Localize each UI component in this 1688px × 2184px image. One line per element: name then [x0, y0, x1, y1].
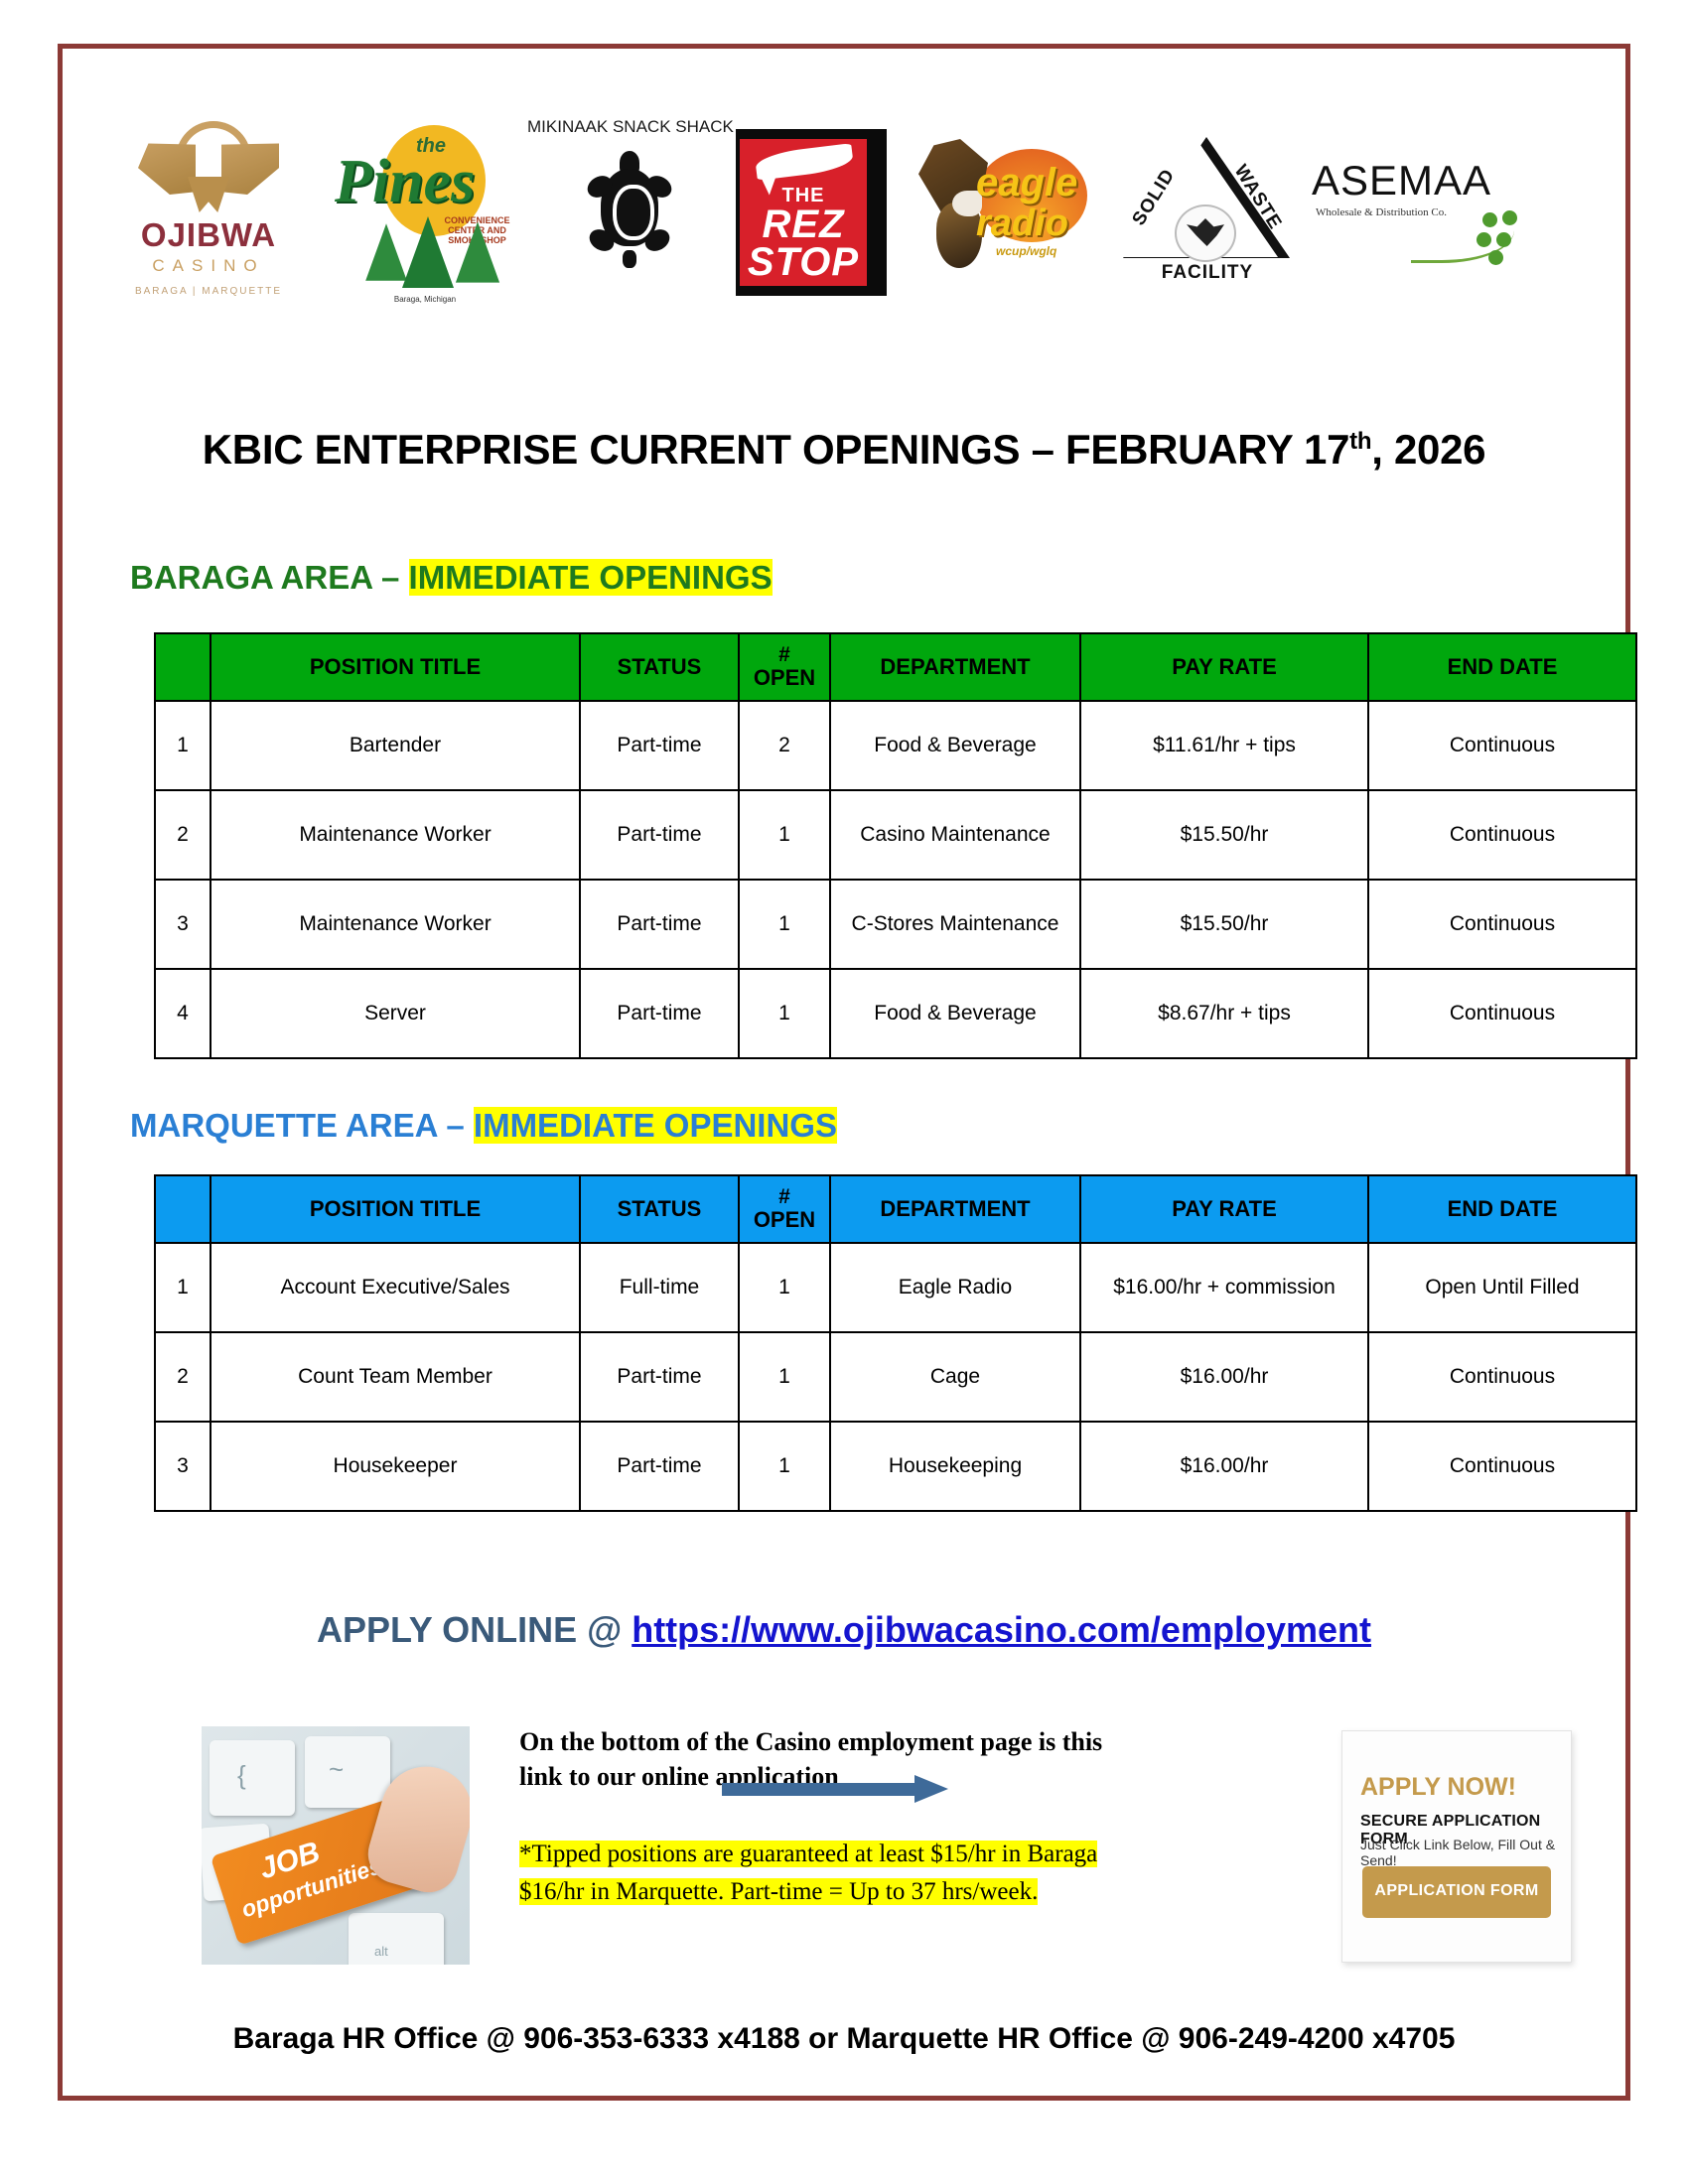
table-row: 3 Maintenance Worker Part-time 1 C-Store…	[155, 880, 1636, 969]
cell-status: Part-time	[580, 790, 739, 880]
solid-waste-facility-logo: SOLID WASTE FACILITY	[1113, 113, 1302, 312]
cell-index: 1	[155, 1243, 211, 1332]
cell-department: Housekeeping	[830, 1422, 1080, 1511]
cell-end-date: Continuous	[1368, 1332, 1636, 1422]
cell-department: Eagle Radio	[830, 1243, 1080, 1332]
key-symbol-icon: ~	[329, 1754, 344, 1785]
cell-position-title: Maintenance Worker	[211, 790, 580, 880]
cell-end-date: Open Until Filled	[1368, 1243, 1636, 1332]
turtle-icon	[587, 151, 672, 266]
cell-position-title: Account Executive/Sales	[211, 1243, 580, 1332]
note-line-1: On the bottom of the Casino employment p…	[519, 1724, 1274, 1759]
cell-department: Food & Beverage	[830, 701, 1080, 790]
cell-index: 3	[155, 1422, 211, 1511]
baraga-openings-table: POSITION TITLE STATUS #OPEN DEPARTMENT P…	[154, 632, 1637, 1059]
page-frame: OJIBWA CASINO BARAGA | MARQUETTE the Pin…	[58, 44, 1630, 2101]
hr-contact-footer: Baraga HR Office @ 906-353-6333 x4188 or…	[63, 2022, 1625, 2056]
cell-position-title: Bartender	[211, 701, 580, 790]
cell-pay-rate: $16.00/hr	[1080, 1422, 1368, 1511]
section-heading-marquette-prefix: MARQUETTE AREA –	[130, 1107, 474, 1144]
ojibwa-casino-logo: OJIBWA CASINO BARAGA | MARQUETTE	[114, 113, 303, 312]
cell-num-open: 1	[739, 969, 830, 1058]
application-form-button-label: APPLICATION FORM	[1362, 1882, 1551, 1900]
col-header-index	[155, 633, 211, 701]
right-arrow-icon	[722, 1776, 960, 1802]
page-title-ordinal: th	[1349, 428, 1371, 455]
ojibwa-wordmark: OJIBWA	[114, 216, 303, 254]
job-opportunities-image: { ~ JOB opportunities alt	[202, 1726, 470, 1965]
cell-status: Part-time	[580, 969, 739, 1058]
logo-strip: OJIBWA CASINO BARAGA | MARQUETTE the Pin…	[63, 103, 1625, 312]
apply-online-line: APPLY ONLINE @ https://www.ojibwacasino.…	[63, 1609, 1625, 1651]
num-open-hash: #	[744, 1186, 825, 1208]
pine-tree-icon	[402, 216, 454, 288]
cell-department: Cage	[830, 1332, 1080, 1422]
tipped-positions-note: *Tipped positions are guaranteed at leas…	[519, 1836, 1304, 1910]
col-header-pay-rate: PAY RATE	[1080, 1175, 1368, 1243]
page-title-year: , 2026	[1371, 426, 1485, 473]
col-header-end-date: END DATE	[1368, 1175, 1636, 1243]
apply-now-title: APPLY NOW!	[1360, 1773, 1516, 1802]
eagle-wordmark-2: radio	[976, 203, 1068, 245]
asemaa-logo: ASEMAA Wholesale & Distribution Co.	[1308, 113, 1516, 312]
cell-status: Full-time	[580, 1243, 739, 1332]
col-header-end-date: END DATE	[1368, 633, 1636, 701]
cell-end-date: Continuous	[1368, 880, 1636, 969]
cell-position-title: Housekeeper	[211, 1422, 580, 1511]
the-pines-logo: the Pines CONVENIENCE CENTER AND SMOKESH…	[321, 113, 529, 312]
cell-index: 1	[155, 701, 211, 790]
cell-end-date: Continuous	[1368, 701, 1636, 790]
cell-num-open: 1	[739, 1422, 830, 1511]
cell-position-title: Maintenance Worker	[211, 880, 580, 969]
cell-department: Casino Maintenance	[830, 790, 1080, 880]
cell-pay-rate: $8.67/hr + tips	[1080, 969, 1368, 1058]
cell-index: 2	[155, 1332, 211, 1422]
pines-wordmark: Pines	[335, 147, 475, 217]
pines-city-label: Baraga, Michigan	[321, 295, 529, 304]
num-open-hash: #	[744, 644, 825, 666]
page-title-main: KBIC ENTERPRISE CURRENT OPENINGS – FEBRU…	[203, 426, 1349, 473]
pine-tree-icon	[365, 223, 407, 281]
section-heading-baraga: BARAGA AREA – IMMEDIATE OPENINGS	[130, 559, 773, 597]
cell-status: Part-time	[580, 1422, 739, 1511]
section-heading-baraga-highlight: IMMEDIATE OPENINGS	[409, 559, 773, 596]
col-header-pay-rate: PAY RATE	[1080, 633, 1368, 701]
col-header-num-open: #OPEN	[739, 1175, 830, 1243]
apply-online-label: APPLY ONLINE @	[317, 1609, 632, 1650]
cell-index: 4	[155, 969, 211, 1058]
the-rez-stop-logo: THE REZ STOP	[728, 113, 897, 312]
cell-num-open: 1	[739, 1243, 830, 1332]
rez-line2: STOP	[740, 240, 867, 285]
num-open-word: OPEN	[754, 1207, 815, 1232]
col-header-num-open: #OPEN	[739, 633, 830, 701]
cell-pay-rate: $15.50/hr	[1080, 790, 1368, 880]
section-heading-marquette: MARQUETTE AREA – IMMEDIATE OPENINGS	[130, 1107, 837, 1145]
table-row: 4 Server Part-time 1 Food & Beverage $8.…	[155, 969, 1636, 1058]
apply-now-hint: Just Click Link Below, Fill Out & Send!	[1360, 1837, 1571, 1868]
cell-num-open: 1	[739, 790, 830, 880]
cell-pay-rate: $11.61/hr + tips	[1080, 701, 1368, 790]
apply-now-card[interactable]: APPLY NOW! SECURE APPLICATION FORM Just …	[1341, 1730, 1572, 1963]
mikinaak-snack-shack-logo: MIKINAAK SNACK SHACK	[539, 113, 718, 312]
cell-department: Food & Beverage	[830, 969, 1080, 1058]
ojibwa-locations: BARAGA | MARQUETTE	[114, 286, 303, 297]
num-open-word: OPEN	[754, 665, 815, 690]
application-form-button[interactable]: APPLICATION FORM	[1362, 1866, 1551, 1918]
asemaa-wordmark: ASEMAA	[1312, 157, 1491, 205]
col-header-department: DEPARTMENT	[830, 633, 1080, 701]
cell-index: 2	[155, 790, 211, 880]
mikinaak-title: MIKINAAK SNACK SHACK	[527, 117, 730, 137]
cell-num-open: 1	[739, 1332, 830, 1422]
cell-status: Part-time	[580, 701, 739, 790]
tip-note-line-2: $16/hr in Marquette. Part-time = Up to 3…	[519, 1878, 1038, 1905]
table-row: 3 Housekeeper Part-time 1 Housekeeping $…	[155, 1422, 1636, 1511]
table-row: 2 Maintenance Worker Part-time 1 Casino …	[155, 790, 1636, 880]
key-symbol-icon: {	[237, 1760, 246, 1791]
col-header-position-title: POSITION TITLE	[211, 1175, 580, 1243]
cell-pay-rate: $16.00/hr	[1080, 1332, 1368, 1422]
eagle-radio-logo: eagle radio wcup/wglq	[911, 113, 1109, 312]
section-heading-marquette-highlight: IMMEDIATE OPENINGS	[474, 1107, 837, 1144]
col-header-status: STATUS	[580, 1175, 739, 1243]
cell-position-title: Server	[211, 969, 580, 1058]
pine-tree-icon	[456, 221, 499, 282]
col-header-index	[155, 1175, 211, 1243]
cell-position-title: Count Team Member	[211, 1332, 580, 1422]
cell-end-date: Continuous	[1368, 790, 1636, 880]
seal-icon	[1175, 205, 1236, 262]
page-title: KBIC ENTERPRISE CURRENT OPENINGS – FEBRU…	[63, 426, 1625, 474]
eagle-callsign: wcup/wglq	[996, 244, 1056, 258]
cell-index: 3	[155, 880, 211, 969]
employment-link[interactable]: https://www.ojibwacasino.com/employment	[632, 1609, 1371, 1650]
table-header-row: POSITION TITLE STATUS #OPEN DEPARTMENT P…	[155, 1175, 1636, 1243]
cell-department: C-Stores Maintenance	[830, 880, 1080, 969]
cell-status: Part-time	[580, 1332, 739, 1422]
cell-pay-rate: $16.00/hr + commission	[1080, 1243, 1368, 1332]
cell-num-open: 1	[739, 880, 830, 969]
cell-pay-rate: $15.50/hr	[1080, 880, 1368, 969]
table-row: 2 Count Team Member Part-time 1 Cage $16…	[155, 1332, 1636, 1422]
tip-note-line-1: *Tipped positions are guaranteed at leas…	[519, 1841, 1097, 1867]
ojibwa-eagle-icon	[142, 121, 275, 212]
feather-icon	[755, 143, 854, 181]
table-row: 1 Bartender Part-time 2 Food & Beverage …	[155, 701, 1636, 790]
swf-bottom-label: FACILITY	[1113, 262, 1302, 284]
col-header-department: DEPARTMENT	[830, 1175, 1080, 1243]
eagle-wordmark-1: eagle	[976, 161, 1077, 205]
ojibwa-subwordmark: CASINO	[114, 256, 303, 276]
cell-status: Part-time	[580, 880, 739, 969]
cell-end-date: Continuous	[1368, 1422, 1636, 1511]
table-header-row: POSITION TITLE STATUS #OPEN DEPARTMENT P…	[155, 633, 1636, 701]
col-header-status: STATUS	[580, 633, 739, 701]
alt-key-label: alt	[374, 1944, 388, 1959]
col-header-position-title: POSITION TITLE	[211, 633, 580, 701]
cell-end-date: Continuous	[1368, 969, 1636, 1058]
table-row: 1 Account Executive/Sales Full-time 1 Ea…	[155, 1243, 1636, 1332]
cell-num-open: 2	[739, 701, 830, 790]
section-heading-baraga-prefix: BARAGA AREA –	[130, 559, 409, 596]
marquette-openings-table: POSITION TITLE STATUS #OPEN DEPARTMENT P…	[154, 1174, 1637, 1512]
employment-page-note: On the bottom of the Casino employment p…	[519, 1724, 1274, 1794]
